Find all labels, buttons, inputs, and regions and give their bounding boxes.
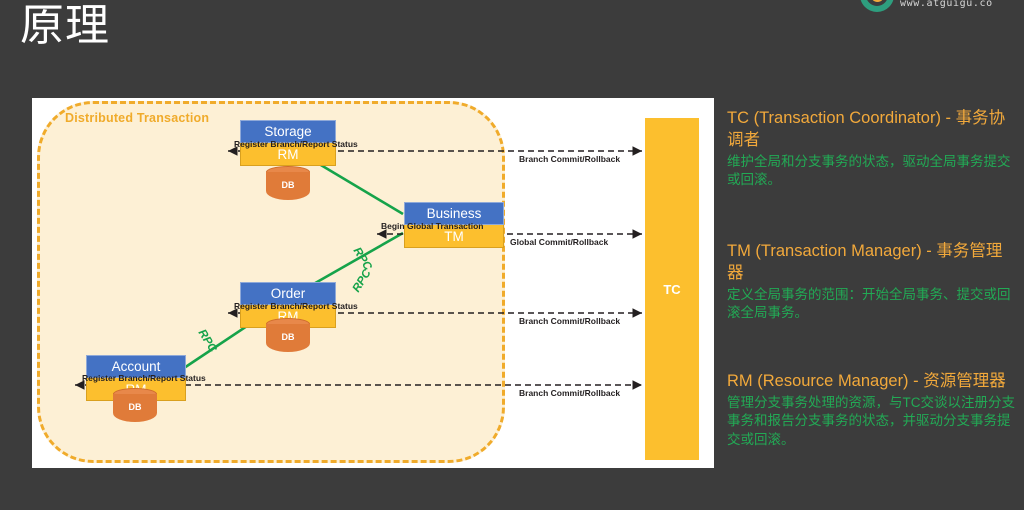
db-label: DB [113,402,157,412]
page-title: 原理 [20,2,110,50]
database-account: DB [113,388,157,426]
diagram-canvas: Distributed Transaction [32,98,714,468]
legend-desc: 管理分支事务处理的资源，与TC交谈以注册分支事务和报告分支事务的状态，并驱动分支… [727,394,1017,450]
legend-block-rm: RM (Resource Manager) - 资源管理器 管理分支事务处理的资… [727,371,1017,450]
legend-block-tc: TC (Transaction Coordinator) - 事务协调者 维护全… [727,108,1017,190]
link-label-global-commit: Global Commit/Rollback [510,237,608,247]
brand-logo: atguigu www.atguigu.co [860,0,1010,24]
database-order: DB [266,318,310,356]
legend-block-tm: TM (Transaction Manager) - 事务管理器 定义全局事务的… [727,241,1017,323]
link-label-register-storage: Register Branch/Report Status [234,139,358,149]
db-label: DB [266,180,310,190]
brand-url: www.atguigu.co [900,0,993,9]
legend-desc: 定义全局事务的范围：开始全局事务、提交或回滚全局事务。 [727,286,1017,323]
legend-heading: TM (Transaction Manager) - 事务管理器 [727,241,1017,285]
transaction-coordinator-column[interactable]: TC [645,118,699,460]
atguigu-ring-icon [860,0,894,12]
link-label-commit-order: Branch Commit/Rollback [519,316,620,326]
database-storage: DB [266,166,310,204]
legend-desc: 维护全局和分支事务的状态，驱动全局事务提交或回滚。 [727,153,1017,190]
atguigu-dot-icon [871,0,884,2]
legend-heading: TC (Transaction Coordinator) - 事务协调者 [727,108,1017,152]
legend-heading: RM (Resource Manager) - 资源管理器 [727,371,1017,393]
db-label: DB [266,332,310,342]
link-label-register-order: Register Branch/Report Status [234,301,358,311]
link-label-register-account: Register Branch/Report Status [82,373,206,383]
link-label-commit-storage: Branch Commit/Rollback [519,154,620,164]
slide-root: 原理 atguigu www.atguigu.co Distributed Tr… [0,0,1024,510]
link-label-begin-global: Begin Global Transaction [381,221,484,231]
link-label-commit-account: Branch Commit/Rollback [519,388,620,398]
